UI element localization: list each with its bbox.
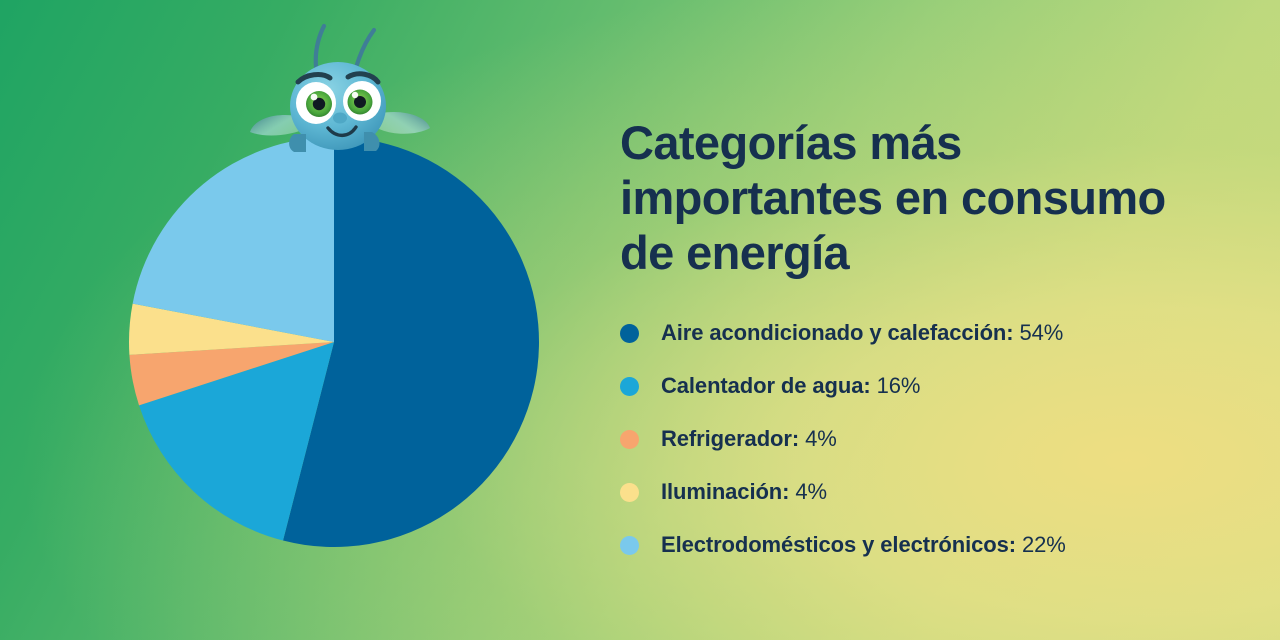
legend-item: Iluminación: 4% — [620, 466, 1250, 519]
pie-chart-svg — [128, 136, 540, 548]
firefly-mascot-svg — [250, 8, 430, 158]
legend-color-dot — [620, 377, 639, 396]
pie-chart — [128, 136, 540, 548]
eye-left-highlight — [311, 94, 318, 101]
legend-value: 4% — [799, 426, 837, 451]
legend-item: Aire acondicionado y calefacción: 54% — [620, 307, 1250, 360]
legend-value: 54% — [1013, 320, 1063, 345]
firefly-mascot — [250, 8, 430, 158]
chart-legend: Aire acondicionado y calefacción: 54%Cal… — [620, 307, 1250, 572]
hand-right-icon — [364, 132, 379, 151]
legend-value: 16% — [871, 373, 921, 398]
energy-consumption-infographic: Categorías más importantes en consumo de… — [0, 0, 1280, 640]
legend-color-dot — [620, 324, 639, 343]
pie-slice-group — [129, 137, 539, 547]
legend-value: 4% — [789, 479, 827, 504]
legend-label: Refrigerador: — [661, 426, 799, 451]
legend-item: Calentador de agua: 16% — [620, 360, 1250, 413]
legend-text: Refrigerador: 4% — [661, 426, 837, 452]
legend-item: Refrigerador: 4% — [620, 413, 1250, 466]
legend-label: Calentador de agua: — [661, 373, 871, 398]
legend-text: Iluminación: 4% — [661, 479, 827, 505]
legend-label: Aire acondicionado y calefacción: — [661, 320, 1013, 345]
content-column: Categorías más importantes en consumo de… — [620, 116, 1250, 572]
eye-right-highlight — [352, 92, 358, 98]
hand-left-icon — [289, 134, 306, 152]
legend-color-dot — [620, 536, 639, 555]
legend-label: Iluminación: — [661, 479, 789, 504]
legend-text: Calentador de agua: 16% — [661, 373, 920, 399]
legend-text: Electrodomésticos y electrónicos: 22% — [661, 532, 1066, 558]
nose-shape — [333, 113, 347, 124]
legend-label: Electrodomésticos y electrónicos: — [661, 532, 1016, 557]
legend-color-dot — [620, 430, 639, 449]
page-title: Categorías más importantes en consumo de… — [620, 116, 1230, 281]
legend-color-dot — [620, 483, 639, 502]
legend-value: 22% — [1016, 532, 1066, 557]
legend-text: Aire acondicionado y calefacción: 54% — [661, 320, 1063, 346]
legend-item: Electrodomésticos y electrónicos: 22% — [620, 519, 1250, 572]
